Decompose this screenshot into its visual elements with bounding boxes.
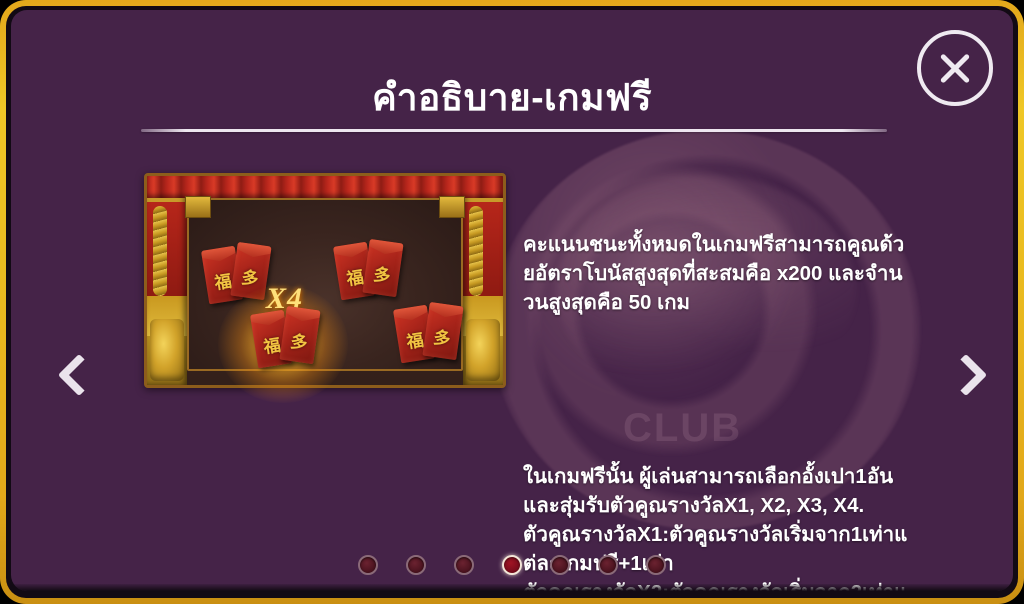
pagination-dot-4[interactable] xyxy=(502,555,522,575)
pagination-dot-3[interactable] xyxy=(454,555,474,575)
feature-illustration: 福 多 福 多 福 多 xyxy=(144,173,506,388)
paytable-modal-window: CLUB คำอธิบาย-เกมฟรี xyxy=(0,0,1024,604)
gold-ingot-icon xyxy=(150,319,184,381)
gold-ingot-icon xyxy=(466,319,500,381)
pagination-dot-1[interactable] xyxy=(358,555,378,575)
pagination-dots xyxy=(11,555,1013,575)
pagination-dot-2[interactable] xyxy=(406,555,426,575)
lantern-valance-decor xyxy=(147,176,503,198)
bottom-strip xyxy=(11,584,1013,591)
corner-bracket-icon xyxy=(439,196,465,218)
close-icon[interactable] xyxy=(917,30,993,106)
chevron-right-glyph xyxy=(945,354,987,396)
page-title: คำอธิบาย-เกมฟรี xyxy=(11,68,1013,127)
paragraph-spacer xyxy=(523,375,908,404)
envelope-glyph: 多 xyxy=(424,322,461,351)
chevron-right-icon[interactable] xyxy=(947,344,993,406)
description-paragraph-1: คะแนนชนะทั้งหมดในเกมฟรีสามารถคูณด้วยอัตร… xyxy=(523,230,908,317)
envelope-glyph: 多 xyxy=(364,259,401,288)
decor-pillar-left xyxy=(147,176,187,385)
pagination-dot-7[interactable] xyxy=(646,555,666,575)
chevron-left-glyph xyxy=(58,354,100,396)
envelope-glyph: 多 xyxy=(232,262,269,291)
rope-ornament-icon xyxy=(469,206,483,296)
rope-ornament-icon xyxy=(153,206,167,296)
chevron-left-icon[interactable] xyxy=(56,344,102,406)
decor-pillar-right xyxy=(463,176,503,385)
envelope-glyph: 多 xyxy=(281,326,318,355)
pagination-dot-5[interactable] xyxy=(550,555,570,575)
description-text-block: คะแนนชนะทั้งหมดในเกมฟรีสามารถคูณด้วยอัตร… xyxy=(523,172,908,591)
pagination-dot-6[interactable] xyxy=(598,555,618,575)
modal-panel: CLUB คำอธิบาย-เกมฟรี xyxy=(11,10,1013,591)
corner-bracket-icon xyxy=(185,196,211,218)
title-divider xyxy=(141,129,887,132)
